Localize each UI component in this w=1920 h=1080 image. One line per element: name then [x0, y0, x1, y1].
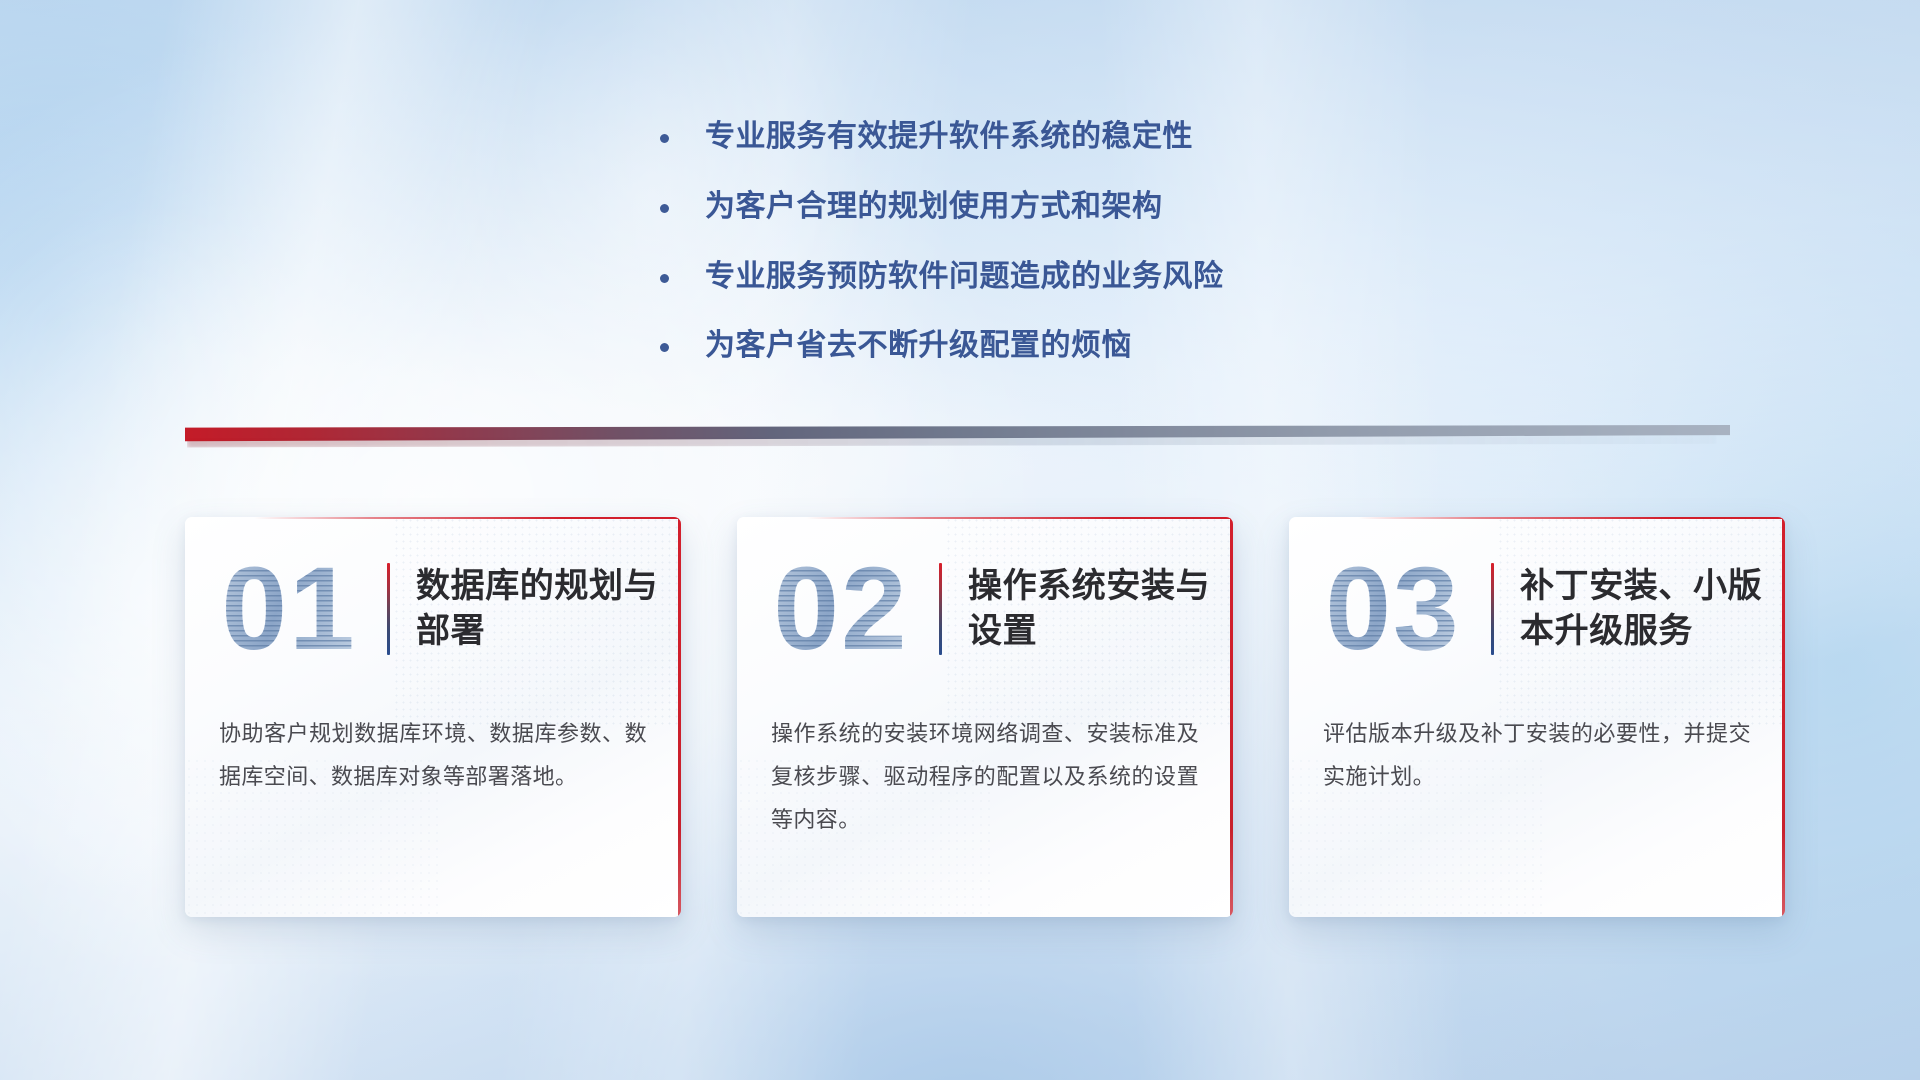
divider: [185, 425, 1730, 447]
info-card[interactable]: 01 数据库的规划与部署 协助客户规划数据库环境、数据库参数、数据库空间、数据库…: [185, 517, 681, 917]
card-title: 操作系统安装与设置: [968, 564, 1233, 654]
list-item: 专业服务有效提升软件系统的稳定性: [660, 115, 1224, 159]
bullet-text: 为客户合理的规划使用方式和架构: [705, 185, 1163, 229]
bullet-dot-icon: [660, 134, 669, 143]
bullet-dot-icon: [660, 274, 669, 283]
card-accent-right: [678, 517, 681, 917]
slide-canvas: 专业服务有效提升软件系统的稳定性 为客户合理的规划使用方式和架构 专业服务预防软…: [0, 0, 1920, 1080]
card-accent-top: [1358, 517, 1785, 519]
bullet-text: 为客户省去不断升级配置的烦恼: [705, 324, 1132, 368]
card-accent-right: [1782, 517, 1785, 917]
bullet-list: 专业服务有效提升软件系统的稳定性 为客户合理的规划使用方式和架构 专业服务预防软…: [660, 115, 1224, 394]
card-body-text: 协助客户规划数据库环境、数据库参数、数据库空间、数据库对象等部署落地。: [219, 713, 647, 799]
card-title-divider: [1491, 563, 1494, 655]
card-row: 01 数据库的规划与部署 协助客户规划数据库环境、数据库参数、数据库空间、数据库…: [0, 517, 1920, 917]
card-header: 03 补丁安装、小版本升级服务: [1289, 517, 1785, 701]
card-accent-top: [254, 517, 681, 519]
card-accent-right: [1230, 517, 1233, 917]
card-accent-top: [806, 517, 1233, 519]
card-number-watermark: 02: [747, 550, 935, 668]
card-title-divider: [939, 563, 942, 655]
card-title: 数据库的规划与部署: [416, 564, 681, 654]
list-item: 为客户省去不断升级配置的烦恼: [660, 324, 1224, 368]
bullet-dot-icon: [660, 204, 669, 213]
card-number-watermark: 03: [1299, 550, 1487, 668]
card-body-text: 操作系统的安装环境网络调查、安装标准及复核步骤、驱动程序的配置以及系统的设置等内…: [771, 713, 1199, 842]
info-card[interactable]: 02 操作系统安装与设置 操作系统的安装环境网络调查、安装标准及复核步骤、驱动程…: [737, 517, 1233, 917]
card-header: 02 操作系统安装与设置: [737, 517, 1233, 701]
info-card[interactable]: 03 补丁安装、小版本升级服务 评估版本升级及补丁安装的必要性，并提交实施计划。: [1289, 517, 1785, 917]
card-title-divider: [387, 563, 390, 655]
card-header: 01 数据库的规划与部署: [185, 517, 681, 701]
card-number-watermark: 01: [195, 550, 383, 668]
card-body-text: 评估版本升级及补丁安装的必要性，并提交实施计划。: [1323, 713, 1751, 799]
bullet-text: 专业服务有效提升软件系统的稳定性: [705, 115, 1193, 159]
bullet-dot-icon: [660, 343, 669, 352]
list-item: 专业服务预防软件问题造成的业务风险: [660, 255, 1224, 299]
list-item: 为客户合理的规划使用方式和架构: [660, 185, 1224, 229]
bullet-text: 专业服务预防软件问题造成的业务风险: [705, 255, 1224, 299]
card-title: 补丁安装、小版本升级服务: [1520, 564, 1785, 654]
